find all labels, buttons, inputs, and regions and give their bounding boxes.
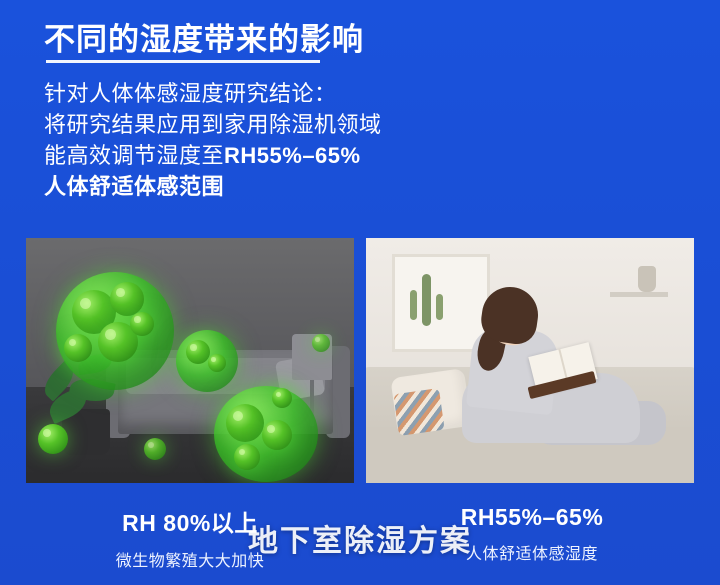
left-room-scene	[26, 238, 354, 483]
germ-7	[208, 354, 226, 372]
germ-12	[38, 424, 68, 454]
germ-8	[226, 404, 264, 442]
right-pillow-pattern	[393, 388, 444, 436]
caption-left-subtitle: 微生物繁殖大大加快	[20, 547, 360, 571]
photo-row: 地下室除湿方案	[26, 238, 694, 483]
page-title: 不同的湿度带来的影响	[44, 14, 364, 59]
germ-13	[144, 438, 166, 460]
intro-humidity-range: RH55%–65%	[224, 143, 361, 168]
photo-high-humidity	[26, 238, 354, 483]
cactus-tall	[422, 274, 431, 326]
intro-line-1: 针对人体体感湿度研究结论：	[44, 78, 604, 109]
wall-shelf	[610, 292, 668, 297]
germ-2	[110, 282, 144, 316]
caption-left: RH 80%以上 微生物繁殖大大加快	[20, 504, 360, 571]
infographic-page: 不同的湿度带来的影响 针对人体体感湿度研究结论： 将研究结果应用到家用除湿机领域…	[0, 0, 720, 585]
cactus-small-left	[410, 290, 417, 320]
caption-left-title: RH 80%以上	[20, 504, 360, 538]
intro-line-3: 能高效调节湿度至RH55%–65%	[44, 140, 604, 171]
germ-4	[64, 334, 92, 362]
title-underline	[46, 60, 320, 63]
intro-line-2: 将研究结果应用到家用除湿机领域	[44, 109, 604, 140]
intro-paragraph: 针对人体体感湿度研究结论： 将研究结果应用到家用除湿机领域 能高效调节湿度至RH…	[44, 78, 604, 202]
germ-5	[130, 312, 154, 336]
intro-line-3-prefix: 能高效调节湿度至	[44, 143, 224, 168]
germ-9	[262, 420, 292, 450]
germ-10	[234, 444, 260, 470]
caption-right-subtitle: 人体舒适体感湿度	[362, 540, 702, 564]
germ-11	[272, 388, 292, 408]
germ-6	[186, 340, 210, 364]
intro-line-4: 人体舒适体感范围	[44, 171, 604, 202]
cactus-small-right	[436, 294, 443, 320]
germ-cluster-mid	[176, 330, 238, 392]
photo-comfort-humidity	[366, 238, 694, 483]
germ-14	[312, 334, 330, 352]
right-room-scene	[366, 238, 694, 483]
caption-right: RH55%–65% 人体舒适体感湿度	[362, 504, 702, 564]
caption-right-title: RH55%–65%	[362, 504, 702, 531]
shelf-vase	[638, 266, 656, 292]
